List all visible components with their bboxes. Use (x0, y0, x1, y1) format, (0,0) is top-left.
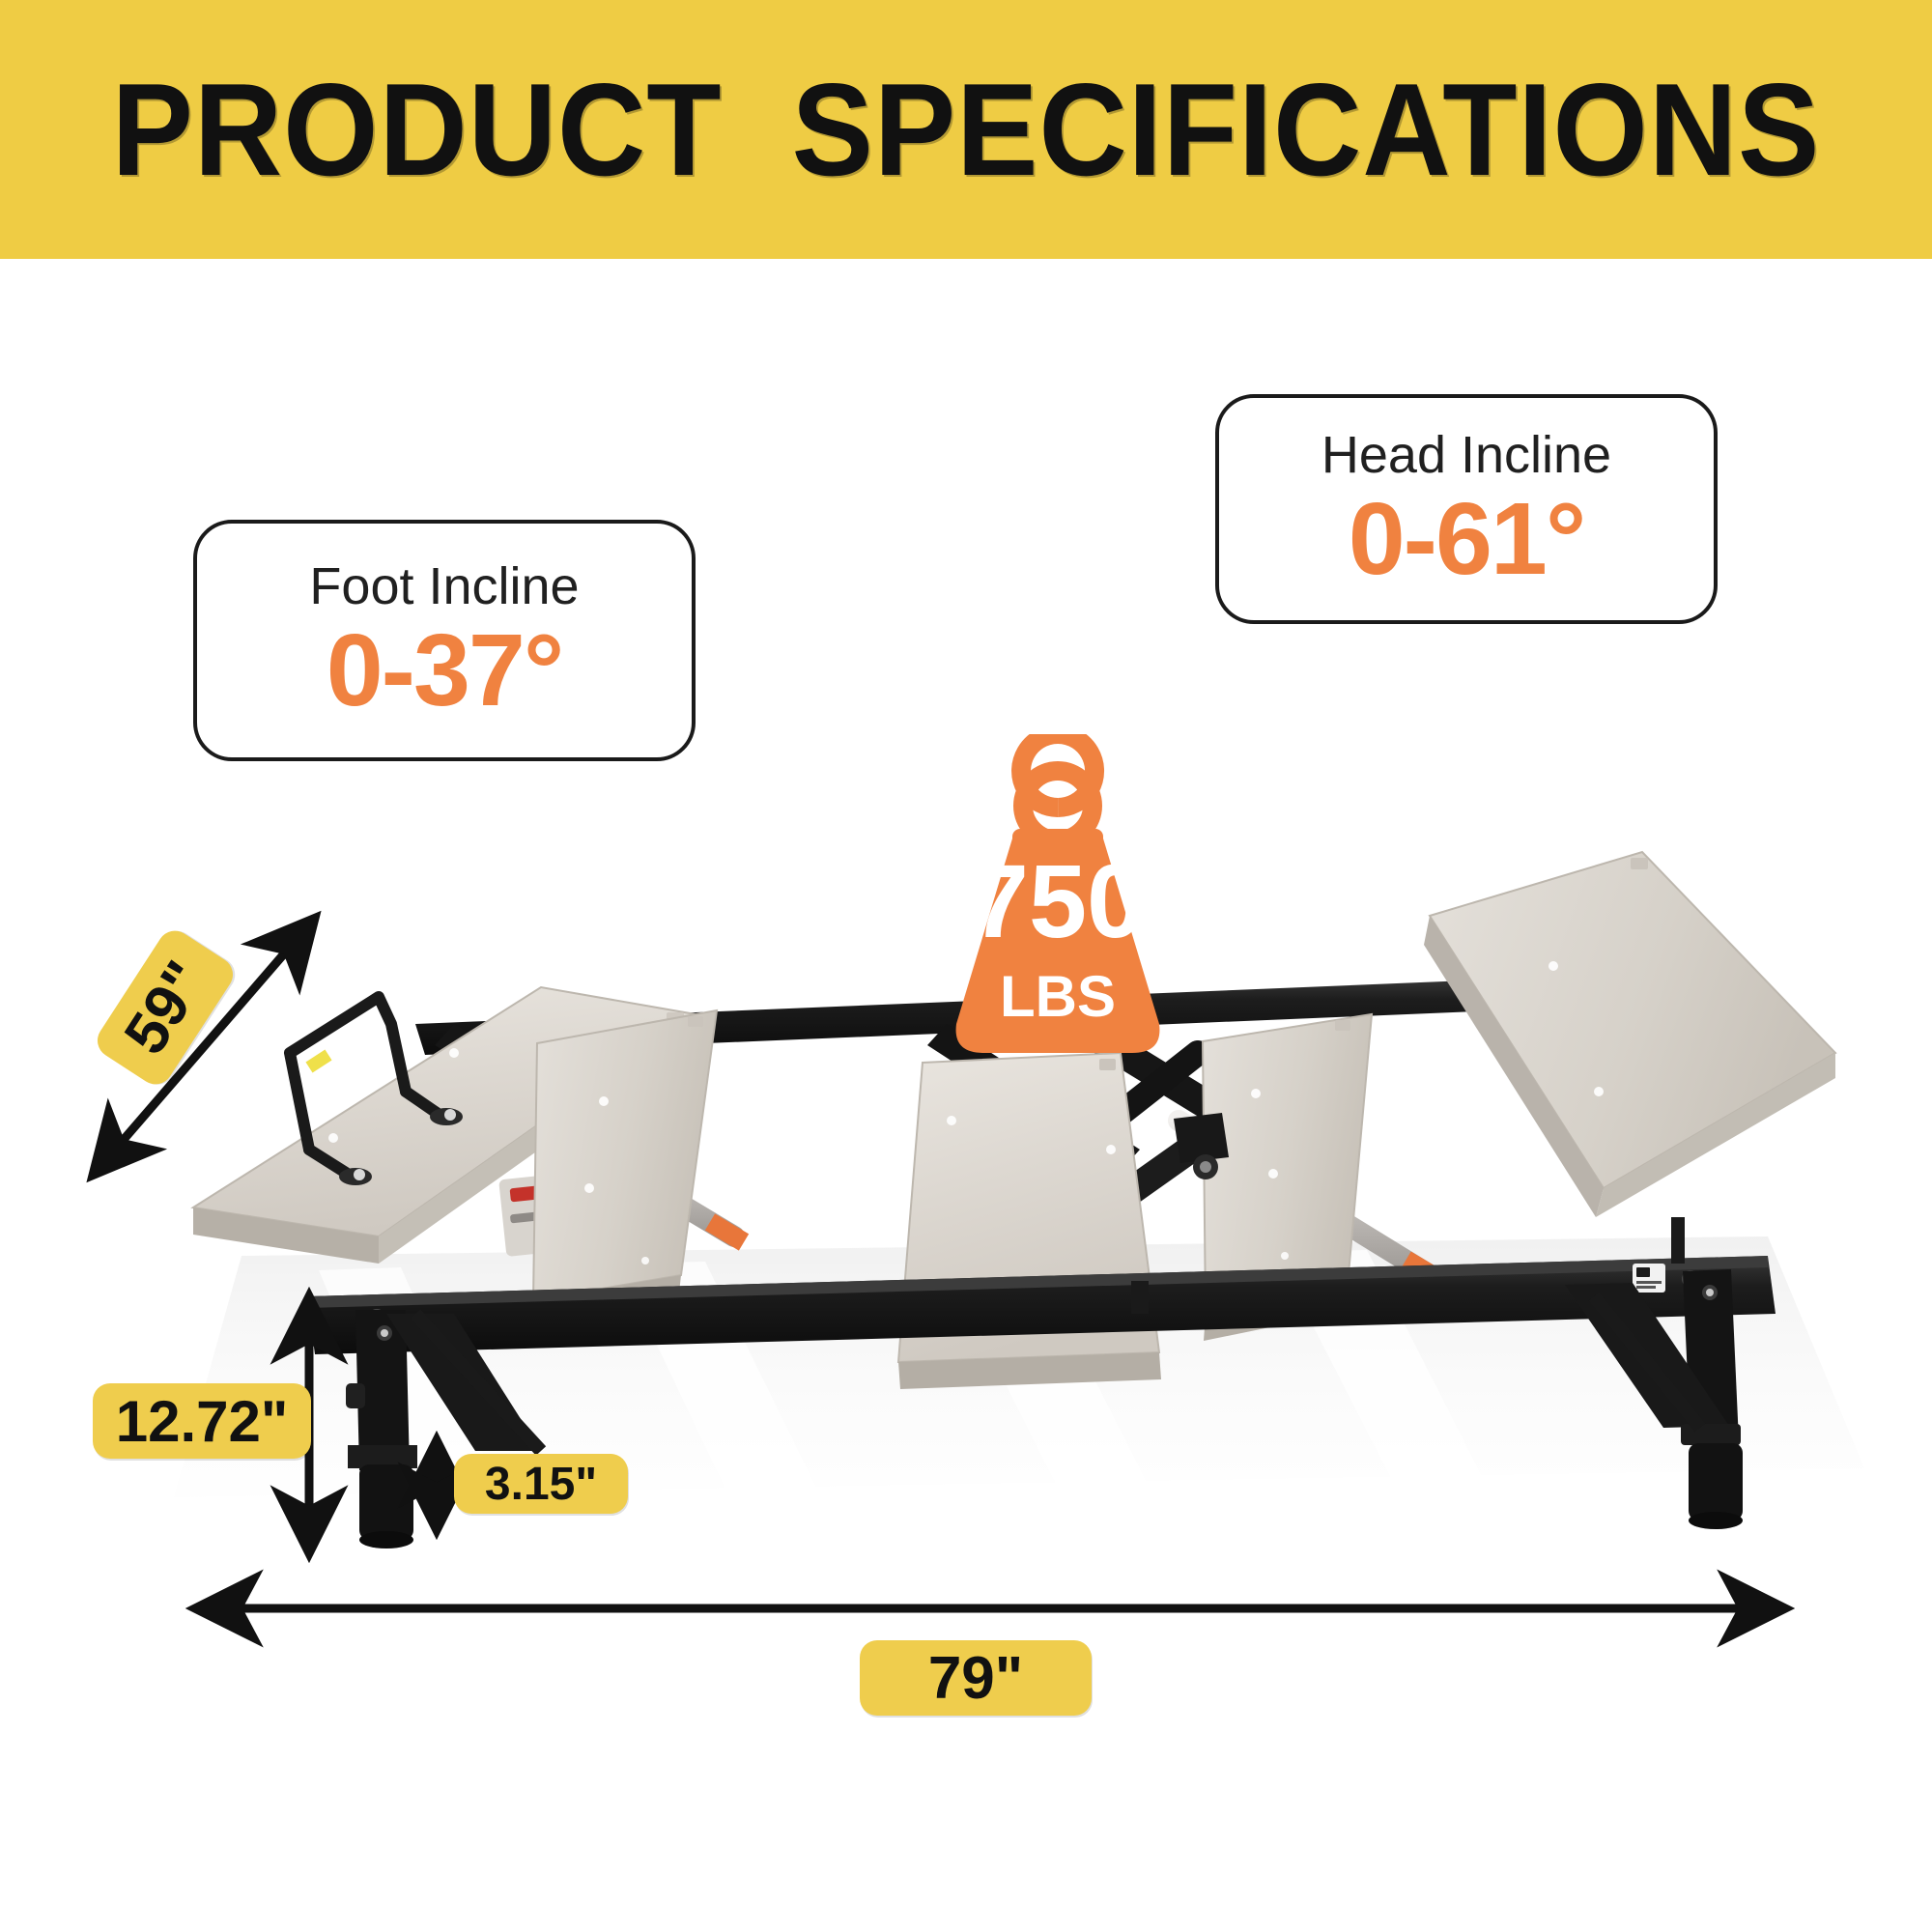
dimension-badge-leg-height: 3.15" (454, 1454, 628, 1514)
header-banner: PRODUCT SPECIFICATIONS (0, 0, 1932, 259)
dimension-badge-frame-height: 12.72" (93, 1383, 311, 1459)
callout-foot-incline-value: 0-37° (327, 619, 563, 722)
callout-foot-incline-label: Foot Incline (309, 559, 579, 614)
panel-head-upper (1424, 852, 1835, 1217)
dimension-badge-length: 79" (860, 1640, 1092, 1716)
callout-head-incline-value: 0-61° (1349, 488, 1585, 590)
page-title: PRODUCT SPECIFICATIONS (112, 54, 1821, 205)
weight-unit-text: LBS (1000, 964, 1116, 1029)
callout-foot-incline: Foot Incline 0-37° (193, 520, 696, 761)
callout-head-incline-label: Head Incline (1321, 428, 1611, 483)
callout-head-incline: Head Incline 0-61° (1215, 394, 1718, 624)
panel-center (898, 1053, 1161, 1389)
weight-value-text: 750 (971, 842, 1145, 959)
product-illustration: 750 LBS (0, 734, 1932, 1604)
